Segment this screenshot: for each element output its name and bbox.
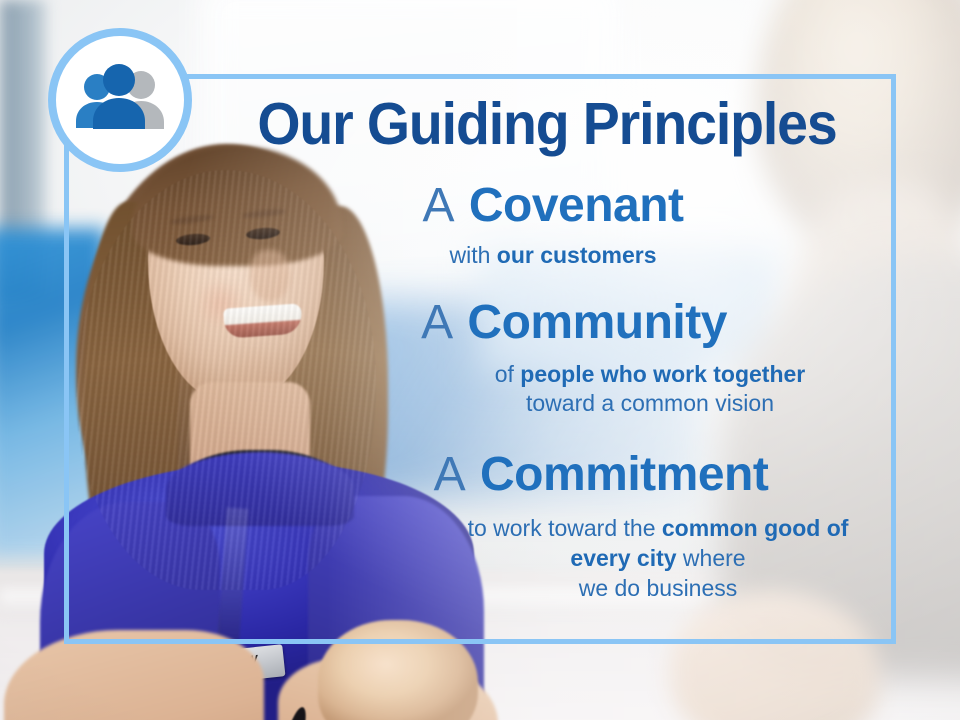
sub-bold-covenant: our customers	[497, 242, 657, 268]
sub-prefix-commitment: to work toward the	[468, 515, 662, 541]
article-community: A	[421, 296, 454, 349]
sub-line2-community: toward a common vision	[526, 390, 774, 416]
article-covenant: A	[422, 179, 455, 232]
keyword-commitment: Commitment	[480, 448, 768, 501]
keyword-community: Community	[467, 296, 727, 349]
principle-community: A Community of people who work together …	[278, 297, 870, 420]
principles-list: A Covenant with our customers A Communit…	[236, 180, 870, 608]
principle-headline-commitment: A Commitment	[332, 449, 870, 501]
keyword-covenant: Covenant	[469, 179, 684, 232]
sub-suffix-commitment: where	[677, 545, 746, 571]
sub-bold-community: people who work together	[520, 361, 805, 387]
principle-headline-covenant: A Covenant	[236, 180, 870, 232]
sub-prefix-covenant: with	[449, 242, 496, 268]
group-of-people-icon	[48, 28, 192, 172]
article-commitment: A	[434, 448, 467, 501]
guiding-principles-graphic: FLOW AUTOMOTIVE FLOW	[0, 0, 960, 720]
sub-line2-commitment: we do business	[579, 575, 738, 601]
principle-sub-community: of people who work together toward a com…	[440, 360, 860, 420]
sub-prefix-community: of	[495, 361, 521, 387]
page-title: Our Guiding Principles	[242, 94, 853, 154]
principle-commitment: A Commitment to work toward the common g…	[332, 449, 870, 604]
principle-covenant: A Covenant with our customers	[236, 180, 870, 271]
principle-sub-commitment: to work toward the common good of every …	[458, 514, 858, 604]
principle-headline-community: A Community	[278, 297, 870, 349]
principle-sub-covenant: with our customers	[236, 241, 870, 271]
